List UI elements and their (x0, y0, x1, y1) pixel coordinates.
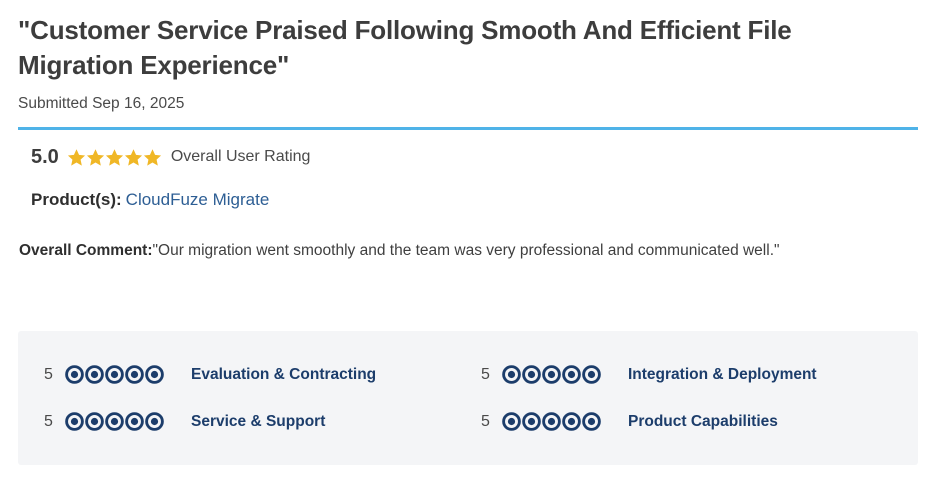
product-row: Product(s):CloudFuze Migrate (18, 167, 918, 211)
star-icon (86, 148, 105, 167)
score-dot-strip (502, 365, 602, 384)
rating-dot-icon (145, 412, 164, 431)
score-row: 5 Service & Support (44, 405, 481, 439)
rating-dot-icon (105, 412, 124, 431)
rating-dot-icon (542, 365, 561, 384)
rating-dot-icon (582, 365, 601, 384)
category-scores-panel: 5 Evaluation & Contracting 5 Integration… (18, 331, 918, 465)
overall-rating-row: 5.0 Overall User Rating (18, 130, 918, 167)
rating-dot-icon (562, 365, 581, 384)
overall-rating-caption: Overall User Rating (171, 149, 311, 165)
score-row: 5 Product Capabilities (481, 405, 918, 439)
rating-dot-icon (85, 365, 104, 384)
score-dot-strip (65, 412, 165, 431)
rating-dot-icon (125, 365, 144, 384)
product-label: Product(s): (31, 190, 122, 209)
score-value: 5 (481, 414, 497, 430)
star-icon (143, 148, 162, 167)
submitted-date: Submitted Sep 16, 2025 (18, 83, 918, 114)
score-value: 5 (481, 367, 497, 383)
rating-dot-icon (502, 412, 521, 431)
rating-dot-icon (85, 412, 104, 431)
overall-star-strip (67, 148, 162, 167)
rating-dot-icon (542, 412, 561, 431)
rating-dot-icon (562, 412, 581, 431)
rating-dot-icon (105, 365, 124, 384)
rating-dot-icon (65, 412, 84, 431)
rating-dot-icon (65, 365, 84, 384)
score-dot-strip (502, 412, 602, 431)
overall-comment-label: Overall Comment: (19, 242, 153, 259)
overall-comment-text: "Our migration went smoothly and the tea… (153, 242, 780, 259)
rating-dot-icon (145, 365, 164, 384)
star-icon (67, 148, 86, 167)
rating-dot-icon (522, 365, 541, 384)
score-label: Evaluation & Contracting (191, 367, 376, 383)
product-link[interactable]: CloudFuze Migrate (126, 190, 270, 209)
review-card: "Customer Service Praised Following Smoo… (0, 0, 936, 480)
star-icon (124, 148, 143, 167)
score-label: Integration & Deployment (628, 367, 817, 383)
score-label: Service & Support (191, 414, 325, 430)
rating-dot-icon (522, 412, 541, 431)
score-label: Product Capabilities (628, 414, 778, 430)
overall-rating-score: 5.0 (31, 147, 59, 167)
score-dot-strip (65, 365, 165, 384)
rating-dot-icon (125, 412, 144, 431)
score-row: 5 Integration & Deployment (481, 358, 918, 392)
score-value: 5 (44, 367, 60, 383)
star-icon (105, 148, 124, 167)
overall-comment: Overall Comment:"Our migration went smoo… (18, 211, 849, 262)
score-row: 5 Evaluation & Contracting (44, 358, 481, 392)
rating-dot-icon (582, 412, 601, 431)
page-title: "Customer Service Praised Following Smoo… (18, 0, 878, 83)
rating-dot-icon (502, 365, 521, 384)
score-value: 5 (44, 414, 60, 430)
